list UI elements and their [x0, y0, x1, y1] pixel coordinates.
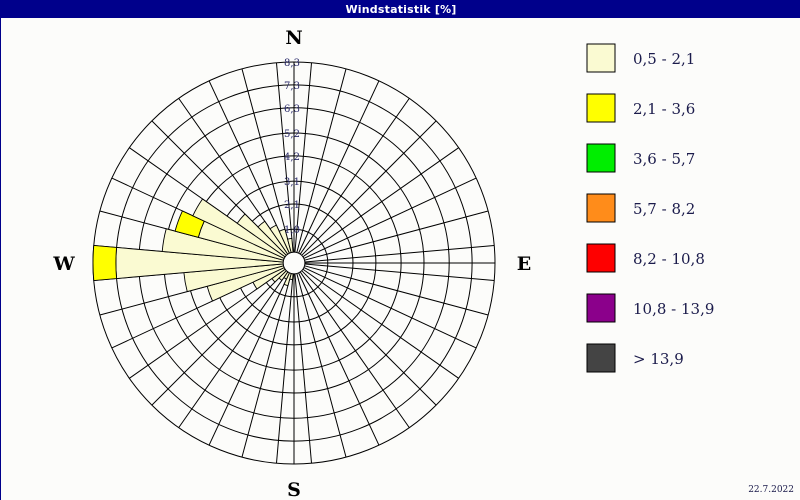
- date-stamp: 22.7.2022: [748, 485, 794, 495]
- radial-tick-label: 5,2: [284, 129, 300, 140]
- legend-swatch: [587, 294, 615, 322]
- compass-label-s: S: [287, 479, 301, 500]
- legend-swatch: [587, 244, 615, 272]
- radial-tick-label: 4,2: [284, 152, 300, 163]
- date-label: 22.7.2022: [748, 485, 794, 495]
- legend-label: 3,6 - 5,7: [633, 150, 695, 168]
- legend-swatch: [587, 144, 615, 172]
- chart-canvas: 1,02,13,14,25,26,37,38,3 NESW 0,5 - 2,12…: [1, 18, 800, 500]
- legend-label: 0,5 - 2,1: [633, 50, 695, 68]
- radial-tick-label: 8,3: [284, 58, 300, 69]
- compass-label-n: N: [285, 27, 302, 49]
- radial-tick-label: 2,1: [284, 200, 300, 211]
- wind-rose-svg: 1,02,13,14,25,26,37,38,3 NESW 0,5 - 2,12…: [1, 18, 800, 500]
- legend-swatch: [587, 44, 615, 72]
- compass-label-e: E: [517, 253, 531, 275]
- legend: 0,5 - 2,12,1 - 3,63,6 - 5,75,7 - 8,28,2 …: [587, 44, 714, 372]
- compass-label-w: W: [52, 253, 75, 275]
- radial-tick-labels: 1,02,13,14,25,26,37,38,3: [284, 58, 300, 236]
- radial-tick-label: 1,0: [284, 225, 300, 236]
- legend-swatch: [587, 344, 615, 372]
- radial-tick-label: 7,3: [284, 81, 300, 92]
- wind-statistics-window: Windstatistik [%] 1,02,13,14,25,26,37,38…: [0, 0, 800, 500]
- window-title: Windstatistik [%]: [345, 3, 456, 16]
- legend-label: 10,8 - 13,9: [633, 300, 714, 318]
- legend-label: 2,1 - 3,6: [633, 100, 695, 118]
- legend-swatch: [587, 94, 615, 122]
- legend-label: 8,2 - 10,8: [633, 250, 705, 268]
- wind-rose-petal: [93, 245, 117, 280]
- legend-label: 5,7 - 8,2: [633, 200, 695, 218]
- window-titlebar: Windstatistik [%]: [1, 1, 800, 18]
- radial-tick-label: 3,1: [284, 177, 300, 188]
- radial-tick-label: 6,3: [284, 104, 300, 115]
- legend-swatch: [587, 194, 615, 222]
- legend-label: > 13,9: [633, 350, 684, 368]
